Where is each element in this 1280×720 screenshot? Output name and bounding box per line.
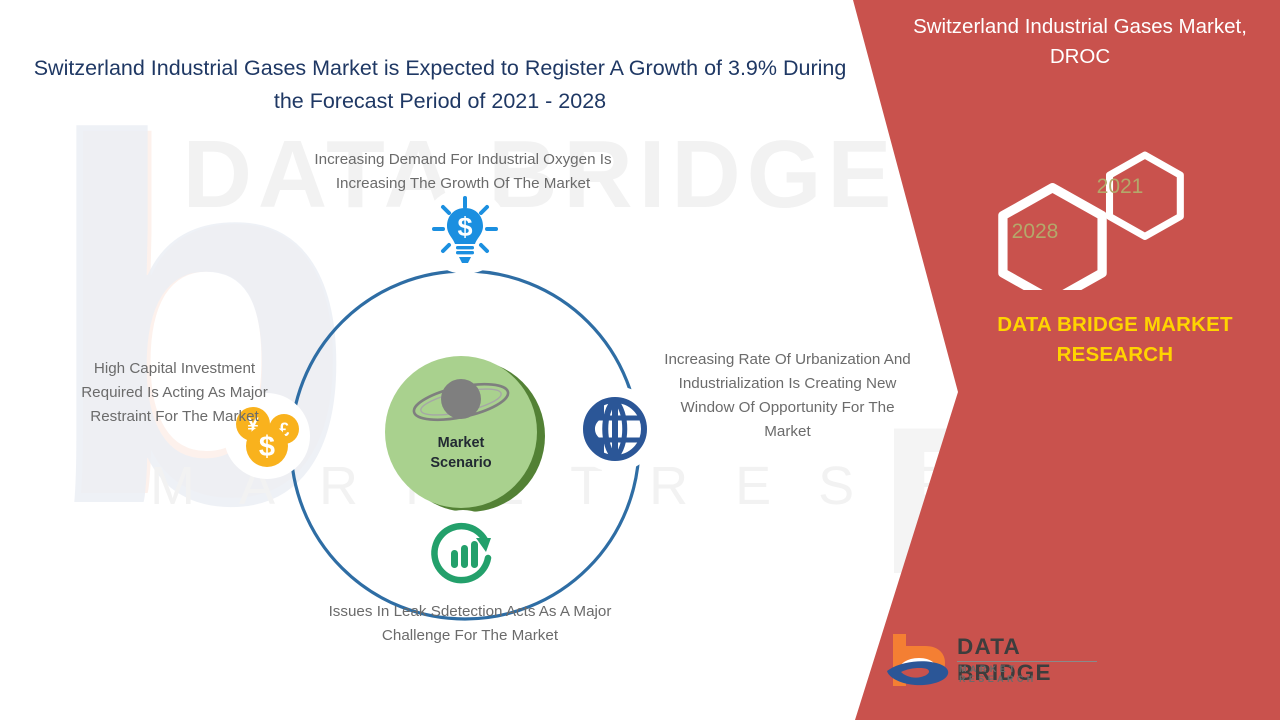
dbmr-logo-rule [957, 661, 1097, 662]
core-label-line1: Market [385, 434, 537, 454]
year-hexagons: 2021 2028 [975, 135, 1195, 290]
svg-text:$: $ [457, 212, 472, 242]
hexagon-label-2021: 2021 [1085, 175, 1155, 199]
dbmr-logo: DATA BRIDGE MARKET RESEARCH [885, 628, 1100, 694]
lightbulb-dollar-icon: $ [428, 194, 502, 268]
dbmr-logo-subtitle: MARKET RESEARCH [959, 664, 1100, 684]
caption-driver: Increasing Demand For Industrial Oxygen … [308, 148, 618, 196]
saturn-planet-icon [409, 368, 513, 432]
node-opportunity-right[interactable] [572, 386, 658, 472]
caption-challenge: Issues In Leak Sdetection Acts As A Majo… [325, 600, 615, 648]
droc-diagram: Market Scenario $ [248, 228, 682, 662]
caption-restraint: High Capital Investment Required Is Acti… [72, 357, 277, 429]
page-title: Switzerland Industrial Gases Market is E… [30, 52, 850, 119]
caption-opportunity: Increasing Rate Of Urbanization And Indu… [660, 348, 915, 444]
infographic-canvas: b b DATA BRIDGE M A R K E T R E S E A R … [0, 0, 1280, 720]
hexagon-label-2028: 2028 [995, 220, 1075, 244]
svg-text:$: $ [259, 431, 275, 463]
core-label: Market Scenario [385, 434, 537, 473]
node-driver-top[interactable]: $ [422, 188, 508, 274]
refresh-bar-chart-icon [428, 518, 498, 588]
node-challenge-bottom[interactable] [420, 510, 506, 596]
right-panel-brand: DATA BRIDGE MARKET RESEARCH [960, 310, 1270, 369]
globe-telephone-icon [582, 396, 648, 462]
dbmr-b-logo-icon [885, 630, 955, 692]
right-panel-title: Switzerland Industrial Gases Market, DRO… [900, 12, 1260, 71]
hexagon-outlines [975, 135, 1195, 290]
market-scenario-core: Market Scenario [385, 356, 545, 516]
core-label-line2: Scenario [385, 454, 537, 474]
